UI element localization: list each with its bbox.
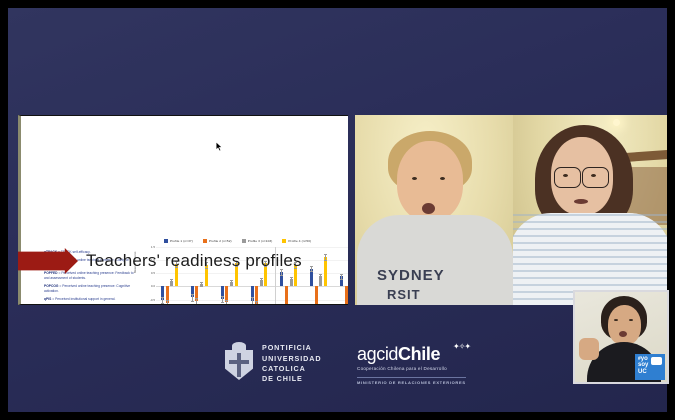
sweatshirt-line1: SYDNEY <box>377 267 445 284</box>
legend-label: Profile 2 (n=52) <box>209 239 232 243</box>
mouse-cursor <box>216 142 223 152</box>
error-cap <box>340 279 343 280</box>
presenter-male-tile[interactable]: SYDNEY RSIT <box>355 115 513 305</box>
y-tick-label: 0.0 <box>151 284 155 288</box>
legend-item-4: Profile 4 (n=50) <box>282 239 311 243</box>
eye-right <box>629 319 633 321</box>
error-cap <box>170 282 173 283</box>
glossary-entry-popcog: POPCOG = Perceived online teaching prese… <box>44 284 136 294</box>
mouth <box>574 199 588 204</box>
presenter-female-tile[interactable] <box>513 115 667 305</box>
error-cap <box>225 300 228 301</box>
error-cap <box>319 279 322 280</box>
error-cap <box>319 274 322 275</box>
error-cap <box>260 282 263 283</box>
bar-qpis-p2 <box>285 286 288 305</box>
eye-left <box>614 319 618 321</box>
legend-swatch <box>282 239 286 243</box>
bar-pisco1-p2 <box>315 286 318 305</box>
legend-item-1: Profile 1 (n=37) <box>164 239 193 243</box>
bar-group-pisco2 <box>335 247 348 305</box>
error-cap <box>161 297 164 298</box>
screen: Profile 1 (n=37)Profile 2 (n=52)Profile … <box>0 0 675 420</box>
legend-item-2: Profile 2 (n=52) <box>203 239 232 243</box>
agcid-wordmark: agcidChile ✦✧✦ <box>357 344 466 365</box>
crest-cross-horizontal <box>229 360 249 364</box>
error-cap <box>251 297 254 298</box>
glossary-entry-qpis: qPIS = Perceived institutional support i… <box>44 297 136 302</box>
slide-title: Teachers' readiness profiles <box>86 251 302 271</box>
error-cap <box>324 254 327 255</box>
error-cap <box>290 280 293 281</box>
logo-strip: PONTIFICIA UNIVERSIDAD CATOLICA DE CHILE… <box>0 338 675 396</box>
video-feed[interactable]: SYDNEY RSIT <box>355 115 667 305</box>
ceiling-light <box>613 119 620 126</box>
glossary-definition: = Perceived institutional support in gen… <box>51 297 115 301</box>
bar-group-pisco1 <box>305 247 335 305</box>
eye-left <box>412 177 417 180</box>
uc-logo: PONTIFICIA UNIVERSIDAD CATOLICA DE CHILE <box>222 342 321 386</box>
error-cap <box>195 304 198 305</box>
shared-slide[interactable]: Profile 1 (n=37)Profile 2 (n=52)Profile … <box>18 115 348 305</box>
agcid-name-b: Chile <box>398 344 440 364</box>
error-cap <box>166 300 169 301</box>
legend-swatch <box>242 239 246 243</box>
error-cap <box>221 296 224 297</box>
bar-pisco2-p2 <box>345 286 348 305</box>
sweatshirt-line2: RSIT <box>387 287 421 302</box>
uc-line1: PONTIFICIA <box>262 343 321 353</box>
error-cap <box>195 298 198 299</box>
error-cap <box>310 271 313 272</box>
stars-icon: ✦✧✦ <box>453 342 470 351</box>
agcid-tagline: Cooperación Chilena para el Desarrollo <box>357 366 466 371</box>
legend-label: Profile 1 (n=37) <box>170 239 193 243</box>
uc-line2: UNIVERSIDAD <box>262 354 321 364</box>
crest-cross-vertical <box>237 353 241 377</box>
glasses-left-lens <box>554 167 581 188</box>
error-cap <box>260 278 263 279</box>
agcid-logo: agcidChile ✦✧✦ Cooperación Chilena para … <box>357 344 466 389</box>
legend-item-3: Profile 3 (n=103) <box>242 239 273 243</box>
eye-right <box>591 174 596 177</box>
error-cap <box>230 284 233 285</box>
chart-legend: Profile 1 (n=37)Profile 2 (n=52)Profile … <box>164 235 348 246</box>
error-cap <box>161 303 164 304</box>
agcid-name-a: agcid <box>357 344 398 364</box>
error-cap <box>200 286 203 287</box>
sweatshirt <box>357 215 513 305</box>
legend-swatch <box>164 239 168 243</box>
crest-crown <box>232 342 246 350</box>
error-cap <box>191 301 194 302</box>
slide-title-banner: Teachers' readiness profiles <box>18 248 302 274</box>
error-cap <box>290 277 293 278</box>
eye-right <box>440 177 445 180</box>
glasses-right-lens <box>582 167 609 188</box>
glossary-key: POPCOG <box>44 284 58 288</box>
legend-label: Profile 4 (n=50) <box>288 239 311 243</box>
mouth <box>422 203 435 214</box>
error-cap <box>170 279 173 280</box>
eye-left <box>563 174 568 177</box>
error-cap <box>200 282 203 283</box>
uc-line4: DE CHILE <box>262 374 321 384</box>
error-cap <box>251 304 254 305</box>
error-cap <box>340 274 343 275</box>
error-bar <box>252 297 253 304</box>
bar-pisco1-p4 <box>324 257 327 286</box>
error-cap <box>324 260 327 261</box>
error-cap <box>191 294 194 295</box>
legend-label: Profile 3 (n=103) <box>248 239 273 243</box>
agcid-ministry: MINISTERIO DE RELACIONES EXTERIORES <box>357 377 466 385</box>
error-cap <box>280 275 283 276</box>
arrow-shape-icon <box>18 248 78 274</box>
legend-swatch <box>203 239 207 243</box>
uc-logo-text: PONTIFICIA UNIVERSIDAD CATOLICA DE CHILE <box>262 343 321 385</box>
uc-crest-icon <box>222 342 256 386</box>
y-tick-label: -0.5 <box>150 298 155 302</box>
error-cap <box>230 280 233 281</box>
error-cap <box>221 302 224 303</box>
error-cap <box>255 301 258 302</box>
uc-line3: CATOLICA <box>262 364 321 374</box>
mouth <box>619 331 627 337</box>
error-cap <box>310 266 313 267</box>
